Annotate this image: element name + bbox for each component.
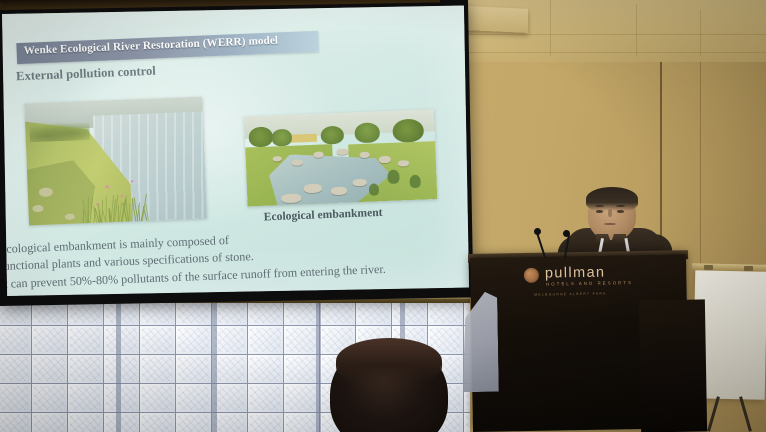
glass-block — [284, 326, 320, 355]
glass-block — [248, 384, 284, 413]
window-mullion — [212, 303, 217, 432]
reed-blade — [106, 197, 108, 225]
glass-block — [104, 413, 140, 432]
window-mullion — [316, 303, 321, 432]
glass-block — [212, 413, 248, 432]
riverbank-grass-photo — [24, 96, 207, 225]
glass-block — [356, 303, 392, 326]
glass-block — [68, 303, 104, 326]
glass-block — [284, 384, 320, 413]
glass-block — [176, 384, 212, 413]
glass-block — [176, 326, 212, 355]
pullman-logo: pullman HOTELS AND RESORTS MELBOURNE ALB… — [524, 264, 635, 296]
photo-caption: Ecological embankment — [264, 206, 383, 224]
slide-body-text: Ecological embankment is mainly composed… — [2, 223, 469, 294]
photo-treeline — [29, 120, 90, 142]
glass-block — [68, 384, 104, 413]
speaker-hair — [586, 187, 638, 211]
glass-block — [104, 384, 140, 413]
glass-block — [0, 355, 32, 384]
microphone-head — [563, 230, 570, 237]
glass-block — [140, 326, 176, 355]
glass-block — [32, 303, 68, 326]
glass-block — [212, 303, 248, 326]
podium-side-panel — [639, 299, 707, 432]
glass-block — [212, 326, 248, 355]
flipchart-clip — [744, 266, 753, 271]
glass-block — [68, 413, 104, 432]
pullman-wordmark: pullman — [545, 265, 606, 282]
glass-block — [68, 355, 104, 384]
glass-block — [0, 326, 32, 355]
glass-block — [140, 355, 176, 384]
glass-block — [32, 326, 68, 355]
presentation-slide: Wenke Ecological River Restoration (WERR… — [2, 6, 469, 296]
speaker-nose — [608, 209, 612, 217]
glass-block — [176, 413, 212, 432]
ecological-embankment-photo — [244, 109, 437, 206]
glass-block — [68, 326, 104, 355]
flipchart-clip — [704, 265, 713, 270]
glass-block — [104, 355, 140, 384]
glass-block — [176, 355, 212, 384]
conference-room-photo: Wenke Ecological River Restoration (WERR… — [0, 0, 766, 432]
audience-member-hair — [336, 338, 442, 384]
glass-block — [248, 326, 284, 355]
glass-block — [248, 413, 284, 432]
glass-block — [176, 303, 212, 326]
glass-block — [140, 384, 176, 413]
glass-block — [320, 303, 356, 326]
glass-block — [392, 303, 428, 326]
glass-block — [104, 326, 140, 355]
glass-block — [0, 413, 32, 432]
microphone-head — [534, 228, 541, 235]
glass-block — [212, 355, 248, 384]
window-mullion — [116, 303, 121, 432]
glass-block — [248, 303, 284, 326]
glass-block — [284, 413, 320, 432]
glass-block — [32, 413, 68, 432]
glass-block — [32, 384, 68, 413]
glass-block — [140, 413, 176, 432]
photo-reeds — [81, 169, 158, 225]
glass-block — [0, 303, 32, 326]
glass-block — [248, 355, 284, 384]
glass-block — [140, 303, 176, 326]
glass-block — [284, 303, 320, 326]
pullman-tagline: HOTELS AND RESORTS — [546, 280, 633, 287]
glass-block — [32, 355, 68, 384]
glass-block — [284, 355, 320, 384]
glass-block — [428, 303, 464, 326]
glass-block — [0, 384, 32, 413]
glass-block — [104, 303, 140, 326]
glass-block — [212, 384, 248, 413]
glass-block — [464, 413, 470, 432]
slide-subheading: External pollution control — [16, 64, 156, 85]
pullman-circle-icon — [524, 268, 539, 283]
